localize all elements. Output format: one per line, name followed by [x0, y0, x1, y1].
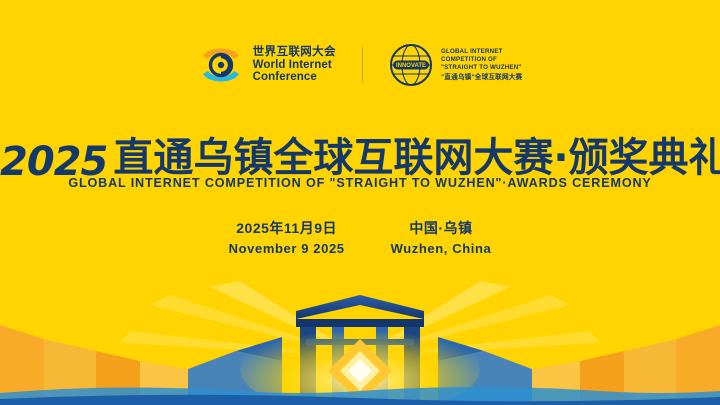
logo-row: 世界互联网大会 World Internet Conference INNOVA… [0, 42, 720, 88]
event-place-en: Wuzhen, China [391, 239, 492, 259]
event-place: 中国·乌镇 Wuzhen, China [391, 218, 492, 259]
gic-en-line2: COMPETITION OF [441, 56, 522, 64]
world-internet-conference-mark-icon [198, 42, 244, 88]
event-place-cn: 中国·乌镇 [391, 218, 492, 239]
event-date: 2025年11月9日 November 9 2025 [229, 218, 345, 259]
wuzhen-skyline-illustration [0, 265, 720, 405]
innovate-badge-text: INNOVATE [396, 63, 426, 69]
event-date-cn: 2025年11月9日 [229, 218, 345, 239]
gic-logo: INNOVATE GLOBAL INTERNET COMPETITION OF … [389, 43, 522, 87]
logo-divider [362, 47, 363, 83]
gic-cn-line: "直通乌镇"全球互联网大赛 [441, 74, 522, 83]
event-poster: 世界互联网大会 World Internet Conference INNOVA… [0, 0, 720, 405]
event-date-en: November 9 2025 [229, 239, 345, 259]
wic-cn-name: 世界互联网大会 [253, 46, 336, 59]
gic-logo-text: GLOBAL INTERNET COMPETITION OF "STRAIGHT… [441, 48, 522, 83]
wic-logo-text: 世界互联网大会 World Internet Conference [253, 46, 336, 85]
gic-en-line3: "STRAIGHT TO WUZHEN" [441, 64, 522, 72]
headline-en-subtitle: GLOBAL INTERNET COMPETITION OF "STRAIGHT… [0, 176, 720, 190]
event-info: 2025年11月9日 November 9 2025 中国·乌镇 Wuzhen,… [0, 218, 720, 259]
innovate-globe-mark-icon: INNOVATE [389, 43, 433, 87]
wic-en-line2: Conference [253, 71, 336, 84]
gic-en-line1: GLOBAL INTERNET [441, 48, 522, 56]
wic-logo: 世界互联网大会 World Internet Conference [198, 42, 336, 88]
wic-en-line1: World Internet [253, 59, 336, 72]
headline-cn-title: 直通乌镇全球互联网大赛·颁奖典礼 [113, 135, 720, 181]
